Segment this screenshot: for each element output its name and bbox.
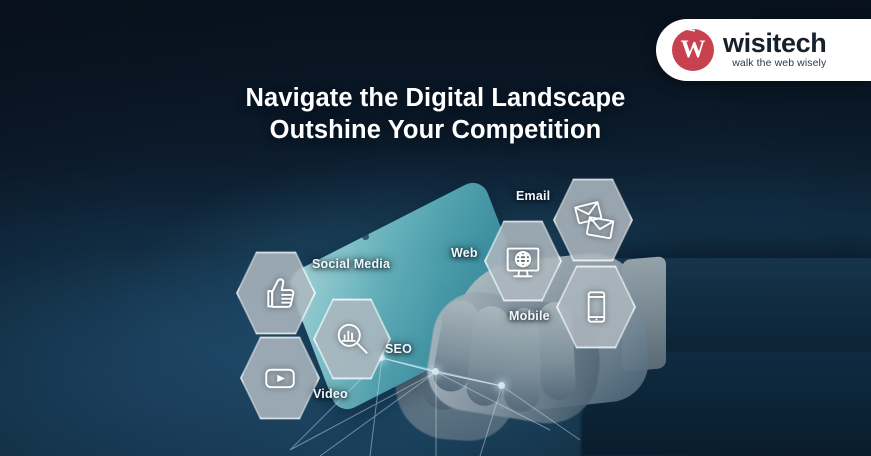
badge-label-seo: SEO xyxy=(385,342,412,356)
badge-label-mobile: Mobile xyxy=(509,309,550,323)
logo-name: wisitech xyxy=(723,30,826,56)
headline-line-2: Outshine Your Competition xyxy=(0,114,871,146)
badge-label-web: Web xyxy=(451,246,478,260)
network-node xyxy=(432,368,439,375)
swoosh-icon xyxy=(667,25,695,53)
marketing-banner: Social Media SEO Video xyxy=(0,0,871,456)
badge-label-social-media: Social Media xyxy=(312,257,390,271)
logo-panel[interactable]: W wisitech walk the web wisely xyxy=(656,19,871,81)
wisitech-logo-mark: W xyxy=(672,29,714,71)
headline: Navigate the Digital Landscape Outshine … xyxy=(0,82,871,146)
badge-label-email: Email xyxy=(516,189,550,203)
logo-tagline: walk the web wisely xyxy=(732,57,826,70)
logo-wordmark: wisitech walk the web wisely xyxy=(723,30,826,70)
headline-line-1: Navigate the Digital Landscape xyxy=(0,82,871,114)
badge-label-video: Video xyxy=(313,387,348,401)
network-node xyxy=(498,382,505,389)
